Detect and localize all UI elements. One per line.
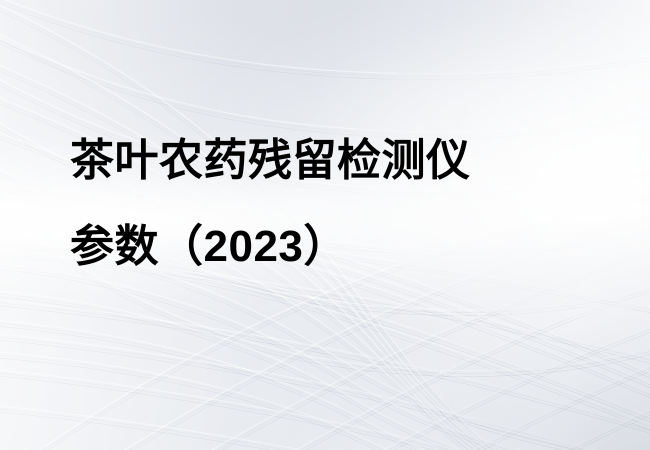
title-banner: 茶叶农药残留检测仪 参数（2023） [0, 0, 650, 450]
title-line-1: 茶叶农药残留检测仪 [70, 118, 590, 204]
banner-title: 茶叶农药残留检测仪 参数（2023） [70, 118, 590, 290]
title-line-2: 参数（2023） [70, 204, 590, 290]
